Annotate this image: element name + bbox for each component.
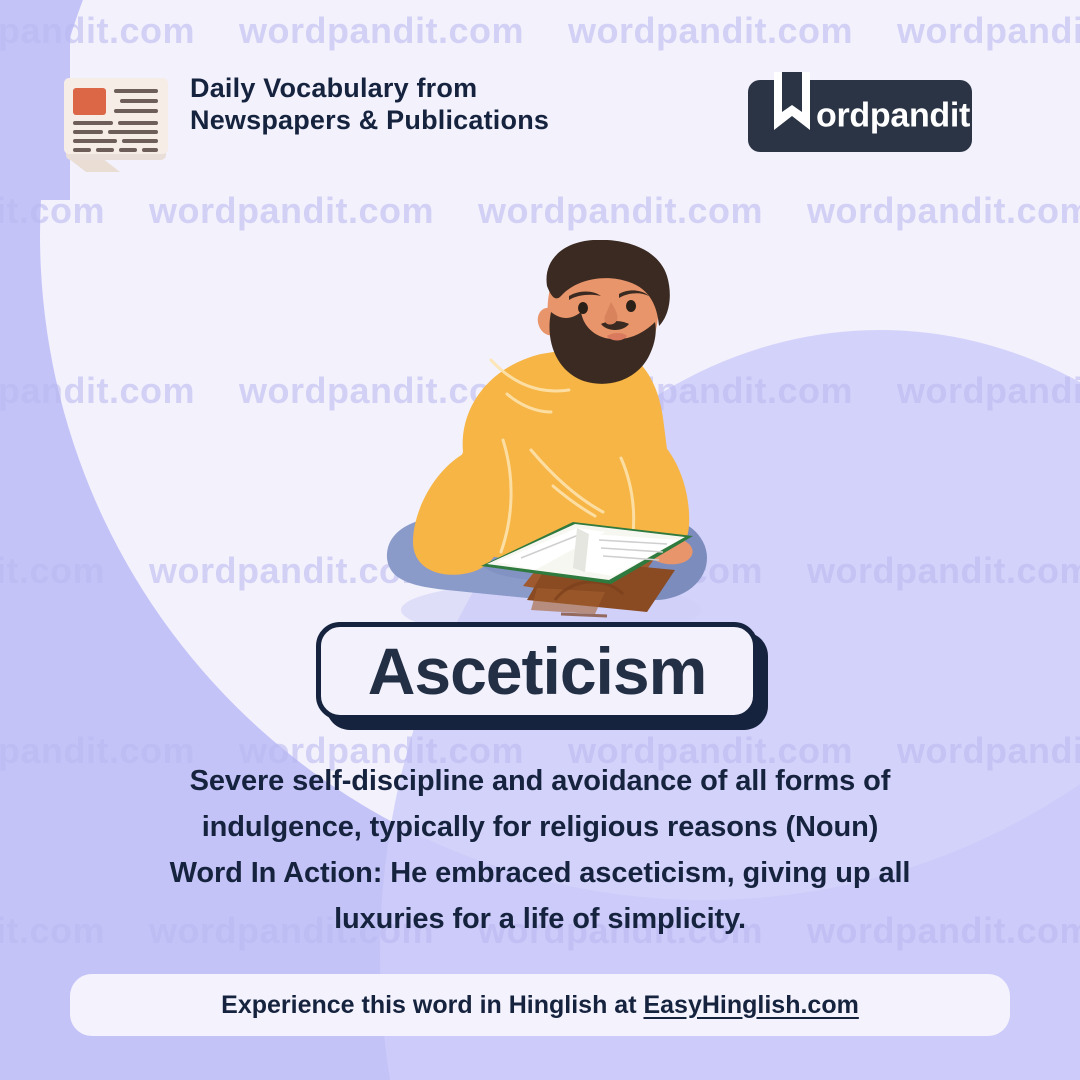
banner-prefix: Experience this word in Hinglish at bbox=[221, 991, 643, 1019]
definition-block: Severe self-discipline and avoidance of … bbox=[50, 758, 1030, 942]
poster-header: Daily Vocabulary from Newspapers & Publi… bbox=[0, 60, 1080, 180]
word-card-body: Asceticism bbox=[316, 622, 758, 720]
header-title-line-1: Daily Vocabulary from bbox=[190, 72, 549, 104]
watermark-text: wordpandit.com bbox=[0, 550, 105, 591]
word-card: Asceticism bbox=[316, 622, 768, 730]
vocabulary-word: Asceticism bbox=[368, 638, 707, 704]
word-in-action-line-2: luxuries for a life of simplicity. bbox=[50, 896, 1030, 942]
definition-line-2: indulgence, typically for religious reas… bbox=[50, 804, 1030, 850]
man-reading-book-illustration bbox=[355, 240, 735, 640]
banner-text: Experience this word in Hinglish at Easy… bbox=[221, 991, 859, 1020]
definition-line-1: Severe self-discipline and avoidance of … bbox=[50, 758, 1030, 804]
header-title-line-2: Newspapers & Publications bbox=[190, 104, 549, 136]
newspaper-icon bbox=[58, 72, 176, 177]
wordpandit-logo[interactable]: ordpandit bbox=[748, 80, 972, 152]
header-title: Daily Vocabulary from Newspapers & Publi… bbox=[190, 72, 549, 136]
poster-canvas: wordpandit.comwordpandit.comwordpandit.c… bbox=[0, 0, 1080, 1080]
logo-text: ordpandit bbox=[816, 97, 970, 136]
easyhinglish-link[interactable]: EasyHinglish.com bbox=[643, 991, 858, 1019]
hinglish-banner[interactable]: Experience this word in Hinglish at Easy… bbox=[70, 974, 1010, 1036]
bookmark-ribbon-icon bbox=[770, 72, 814, 134]
word-in-action-line-1: Word In Action: He embraced asceticism, … bbox=[50, 850, 1030, 896]
